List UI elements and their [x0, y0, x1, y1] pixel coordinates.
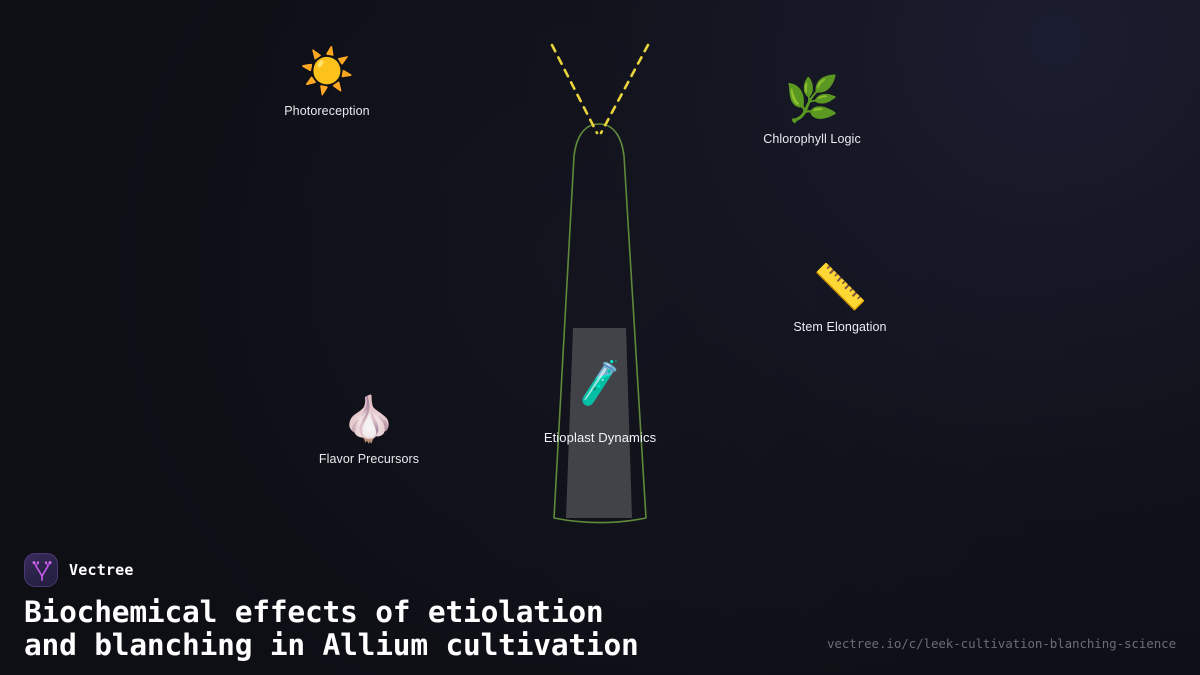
brand-name: Vectree: [69, 561, 134, 579]
node-stem-elongation[interactable]: 📏 Stem Elongation: [740, 260, 940, 334]
page-title-line-1: Biochemical effects of etiolation: [24, 595, 604, 629]
center-node-label: Etioplast Dynamics: [440, 430, 760, 445]
page-title-line-2: and blanching in Allium cultivation: [24, 628, 639, 662]
light-ray-left: [552, 45, 597, 133]
node-chlorophyll-logic-label: Chlorophyll Logic: [712, 132, 912, 146]
node-flavor-precursors[interactable]: 🧄 Flavor Precursors: [269, 392, 469, 466]
test-tube-icon: 🧪: [570, 353, 629, 412]
sun-icon: ☀️: [227, 44, 427, 100]
herb-leaf-icon: 🌿: [712, 72, 912, 128]
vectree-tree-mark-icon: [24, 553, 58, 587]
leek-silhouette-outline: [554, 124, 646, 523]
light-ray-right: [601, 45, 648, 133]
page-title: Biochemical effects of etiolation and bl…: [24, 596, 1176, 662]
node-photoreception[interactable]: ☀️ Photoreception: [227, 44, 427, 118]
ruler-icon: 📏: [740, 260, 940, 316]
node-chlorophyll-logic[interactable]: 🌿 Chlorophyll Logic: [712, 72, 912, 146]
node-photoreception-label: Photoreception: [227, 104, 427, 118]
share-card-canvas: 🧪 Etioplast Dynamics ☀️ Photoreception 🌿…: [0, 0, 1200, 675]
source-url[interactable]: vectree.io/c/leek-cultivation-blanching-…: [827, 636, 1176, 651]
brand[interactable]: Vectree: [24, 553, 1176, 587]
card-footer: Vectree Biochemical effects of etiolatio…: [0, 535, 1200, 675]
node-stem-elongation-label: Stem Elongation: [740, 320, 940, 334]
node-flavor-precursors-label: Flavor Precursors: [269, 452, 469, 466]
garlic-icon: 🧄: [269, 392, 469, 448]
